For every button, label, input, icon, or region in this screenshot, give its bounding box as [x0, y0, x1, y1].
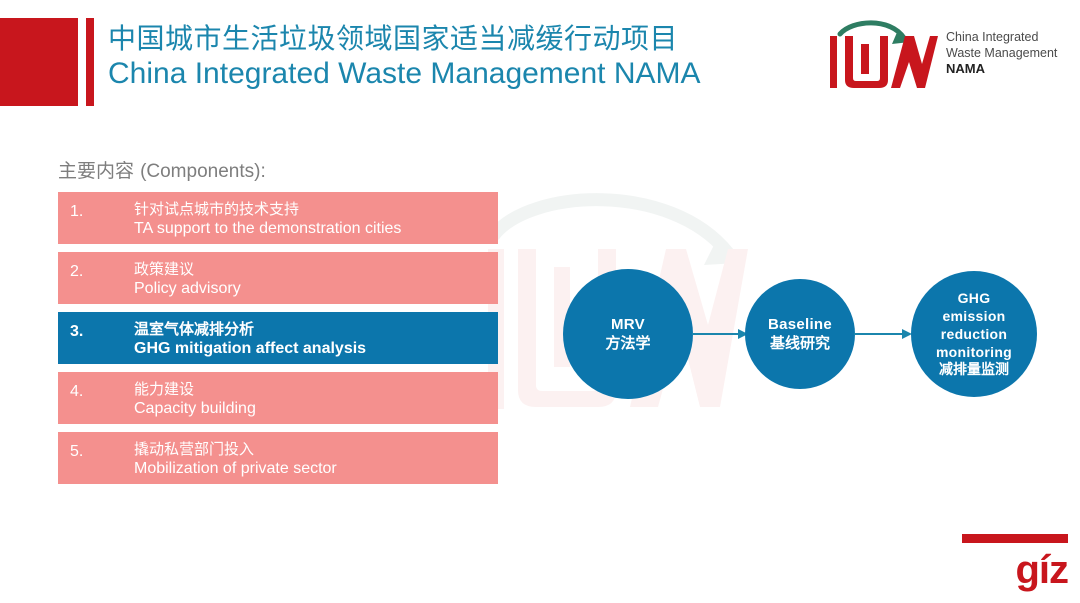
component-item-3[interactable]: 3.温室气体减排分析GHG mitigation affect analysis [58, 312, 498, 364]
component-item-number: 4. [70, 383, 110, 401]
iwm-logo-text: China Integrated Waste Management NAMA [946, 30, 1076, 77]
flow-arrow-1-icon [692, 329, 748, 339]
flow-arrow-2-icon [854, 329, 912, 339]
component-item-1[interactable]: 1.针对试点城市的技术支持TA support to the demonstra… [58, 192, 498, 244]
components-list: 1.针对试点城市的技术支持TA support to the demonstra… [58, 192, 498, 492]
flow-node-3-label-en: GHGemissionreductionmonitoring [936, 289, 1012, 361]
component-item-text: 针对试点城市的技术支持TA support to the demonstrati… [134, 199, 490, 239]
flow-node-baseline[interactable]: Baseline 基线研究 [745, 279, 855, 389]
component-item-text: 政策建议Policy advisory [134, 259, 490, 299]
component-item-4[interactable]: 4.能力建设Capacity building [58, 372, 498, 424]
components-heading-english: (Components): [140, 161, 266, 182]
component-item-label-en: TA support to the demonstration cities [134, 219, 490, 239]
component-item-number: 1. [70, 203, 110, 221]
giz-logo: gíz [962, 534, 1068, 596]
flow-node-ghg-monitoring[interactable]: GHGemissionreductionmonitoring 减排量监测 [911, 271, 1037, 397]
component-item-label-en: Capacity building [134, 399, 490, 419]
header-red-block [0, 18, 78, 106]
page-title-english: China Integrated Waste Management NAMA [108, 56, 701, 92]
page-title-chinese: 中国城市生活垃圾领域国家适当减缓行动项目 [108, 22, 701, 56]
giz-logo-text: gíz [962, 548, 1068, 592]
component-item-label-en: Policy advisory [134, 279, 490, 299]
giz-logo-bar [962, 534, 1068, 543]
flow-node-3-label-cn: 减排量监测 [936, 361, 1012, 379]
component-item-label-en: Mobilization of private sector [134, 459, 490, 479]
slide-canvas: 中国城市生活垃圾领域国家适当减缓行动项目 China Integrated Wa… [0, 0, 1080, 603]
component-item-text: 温室气体减排分析GHG mitigation affect analysis [134, 319, 490, 359]
process-flow-diagram: MRV 方法学 Baseline 基线研究 GHGemissionreducti… [540, 250, 1060, 420]
component-item-label-cn: 政策建议 [134, 259, 490, 279]
iwm-logo: China Integrated Waste Management NAMA [828, 18, 1074, 94]
component-item-text: 撬动私营部门投入Mobilization of private sector [134, 439, 490, 479]
component-item-label-en: GHG mitigation affect analysis [134, 339, 490, 359]
components-heading: 主要内容 (Components): [58, 156, 266, 183]
header-red-accent-bar [86, 18, 94, 106]
iwm-logo-mark-icon [828, 18, 938, 90]
flow-node-1-label-cn: 方法学 [605, 334, 650, 353]
iwm-logo-line-3: NAMA [946, 61, 1076, 77]
component-item-5[interactable]: 5.撬动私营部门投入Mobilization of private sector [58, 432, 498, 484]
component-item-number: 3. [70, 323, 110, 341]
component-item-label-cn: 针对试点城市的技术支持 [134, 199, 490, 219]
component-item-number: 2. [70, 263, 110, 281]
component-item-label-cn: 能力建设 [134, 379, 490, 399]
flow-node-2-label-en: Baseline [768, 315, 832, 334]
components-heading-chinese: 主要内容 [58, 160, 134, 182]
iwm-logo-line-2: Waste Management [946, 46, 1076, 62]
component-item-number: 5. [70, 443, 110, 461]
iwm-logo-line-1: China Integrated [946, 30, 1076, 46]
page-title: 中国城市生活垃圾领域国家适当减缓行动项目 China Integrated Wa… [108, 22, 701, 92]
component-item-label-cn: 撬动私营部门投入 [134, 439, 490, 459]
component-item-2[interactable]: 2.政策建议Policy advisory [58, 252, 498, 304]
component-item-label-cn: 温室气体减排分析 [134, 319, 490, 339]
flow-node-1-label-en: MRV [605, 315, 650, 334]
flow-node-mrv[interactable]: MRV 方法学 [563, 269, 693, 399]
flow-node-2-label-cn: 基线研究 [768, 334, 832, 353]
component-item-text: 能力建设Capacity building [134, 379, 490, 419]
